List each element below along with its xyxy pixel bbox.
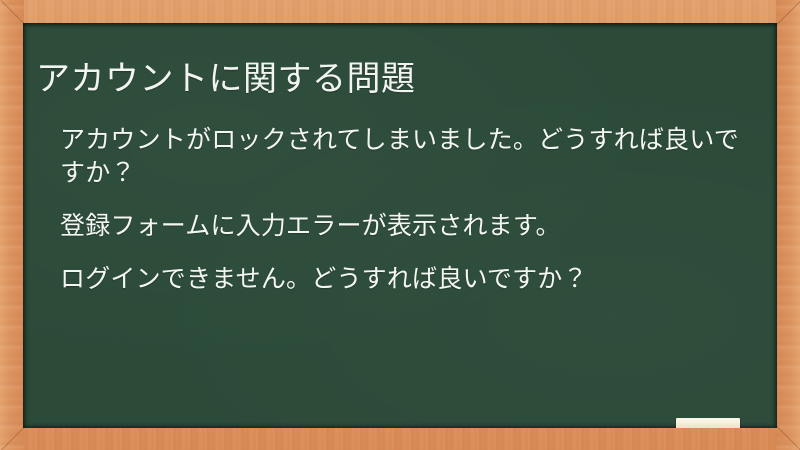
frame-right-stile: [776, 0, 800, 450]
list-item: ログインできません。どうすれば良いですか？: [60, 263, 757, 296]
list-item: 登録フォームに入力エラーが表示されます。: [60, 210, 757, 243]
chalkboard-surface: アカウントに関する問題 アカウントがロックされてしまいました。どうすれば良いです…: [23, 23, 777, 428]
chalkboard-content: アカウントに関する問題 アカウントがロックされてしまいました。どうすれば良いです…: [23, 23, 777, 428]
list-item: アカウントがロックされてしまいました。どうすれば良いですか？: [60, 124, 757, 190]
slide-title: アカウントに関する問題: [36, 57, 757, 101]
question-list: アカウントがロックされてしまいました。どうすれば良いですか？ 登録フォームに入力…: [36, 124, 757, 296]
frame-left-stile: [0, 0, 24, 450]
chalkboard-slide: アカウントに関する問題 アカウントがロックされてしまいました。どうすれば良いです…: [0, 0, 800, 450]
chalk-stick-icon: [676, 418, 740, 428]
